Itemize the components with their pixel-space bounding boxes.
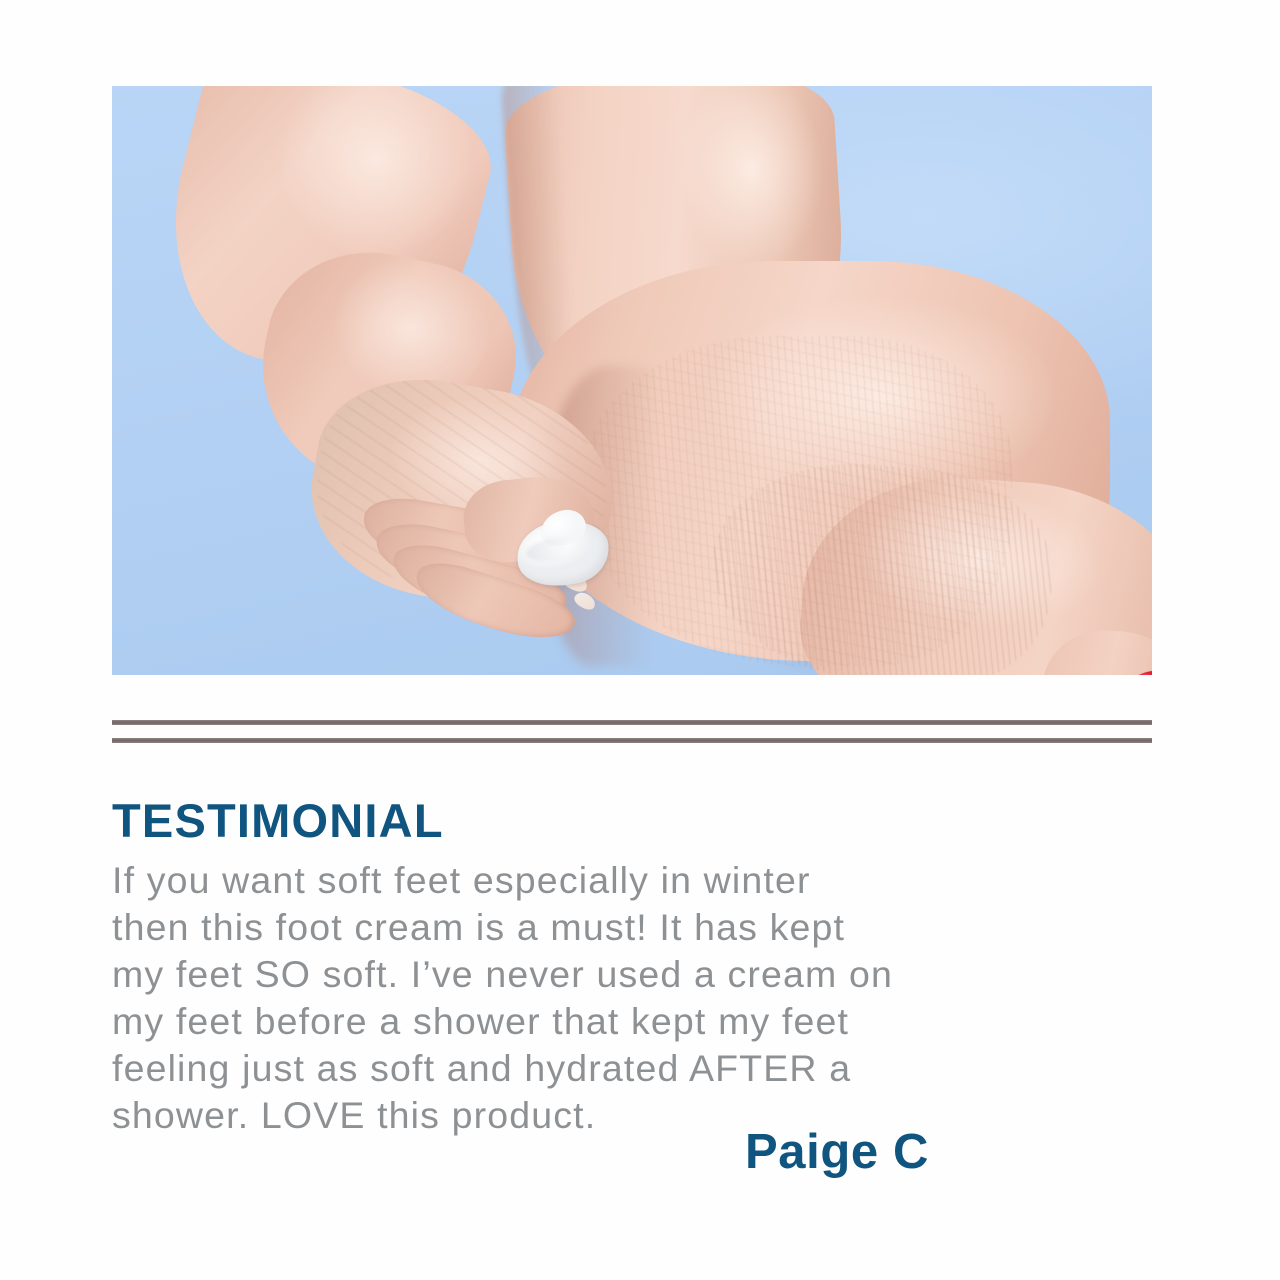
testimonial-body-line: my feet before a shower that kept my fee… bbox=[112, 998, 1112, 1045]
testimonial-body-line: then this foot cream is a must! It has k… bbox=[112, 904, 1112, 951]
divider-line-top bbox=[112, 720, 1152, 725]
divider-group bbox=[112, 720, 1152, 743]
testimonial-body-line: shower. LOVE this product. bbox=[112, 1092, 1112, 1139]
testimonial-card: TESTIMONIAL If you want soft feet especi… bbox=[0, 0, 1280, 1280]
divider-line-bottom bbox=[112, 738, 1152, 743]
testimonial-body-line: If you want soft feet especially in wint… bbox=[112, 857, 1112, 904]
testimonial-author: Paige C bbox=[745, 1124, 929, 1180]
testimonial-body: If you want soft feet especially in wint… bbox=[112, 857, 1112, 1139]
testimonial-body-line: feeling just as soft and hydrated AFTER … bbox=[112, 1045, 1112, 1092]
testimonial-body-line: my feet SO soft. I’ve never used a cream… bbox=[112, 951, 1112, 998]
product-photo bbox=[112, 86, 1152, 675]
page-title: TESTIMONIAL bbox=[112, 796, 1112, 847]
testimonial-text-block: TESTIMONIAL If you want soft feet especi… bbox=[112, 796, 1112, 1139]
